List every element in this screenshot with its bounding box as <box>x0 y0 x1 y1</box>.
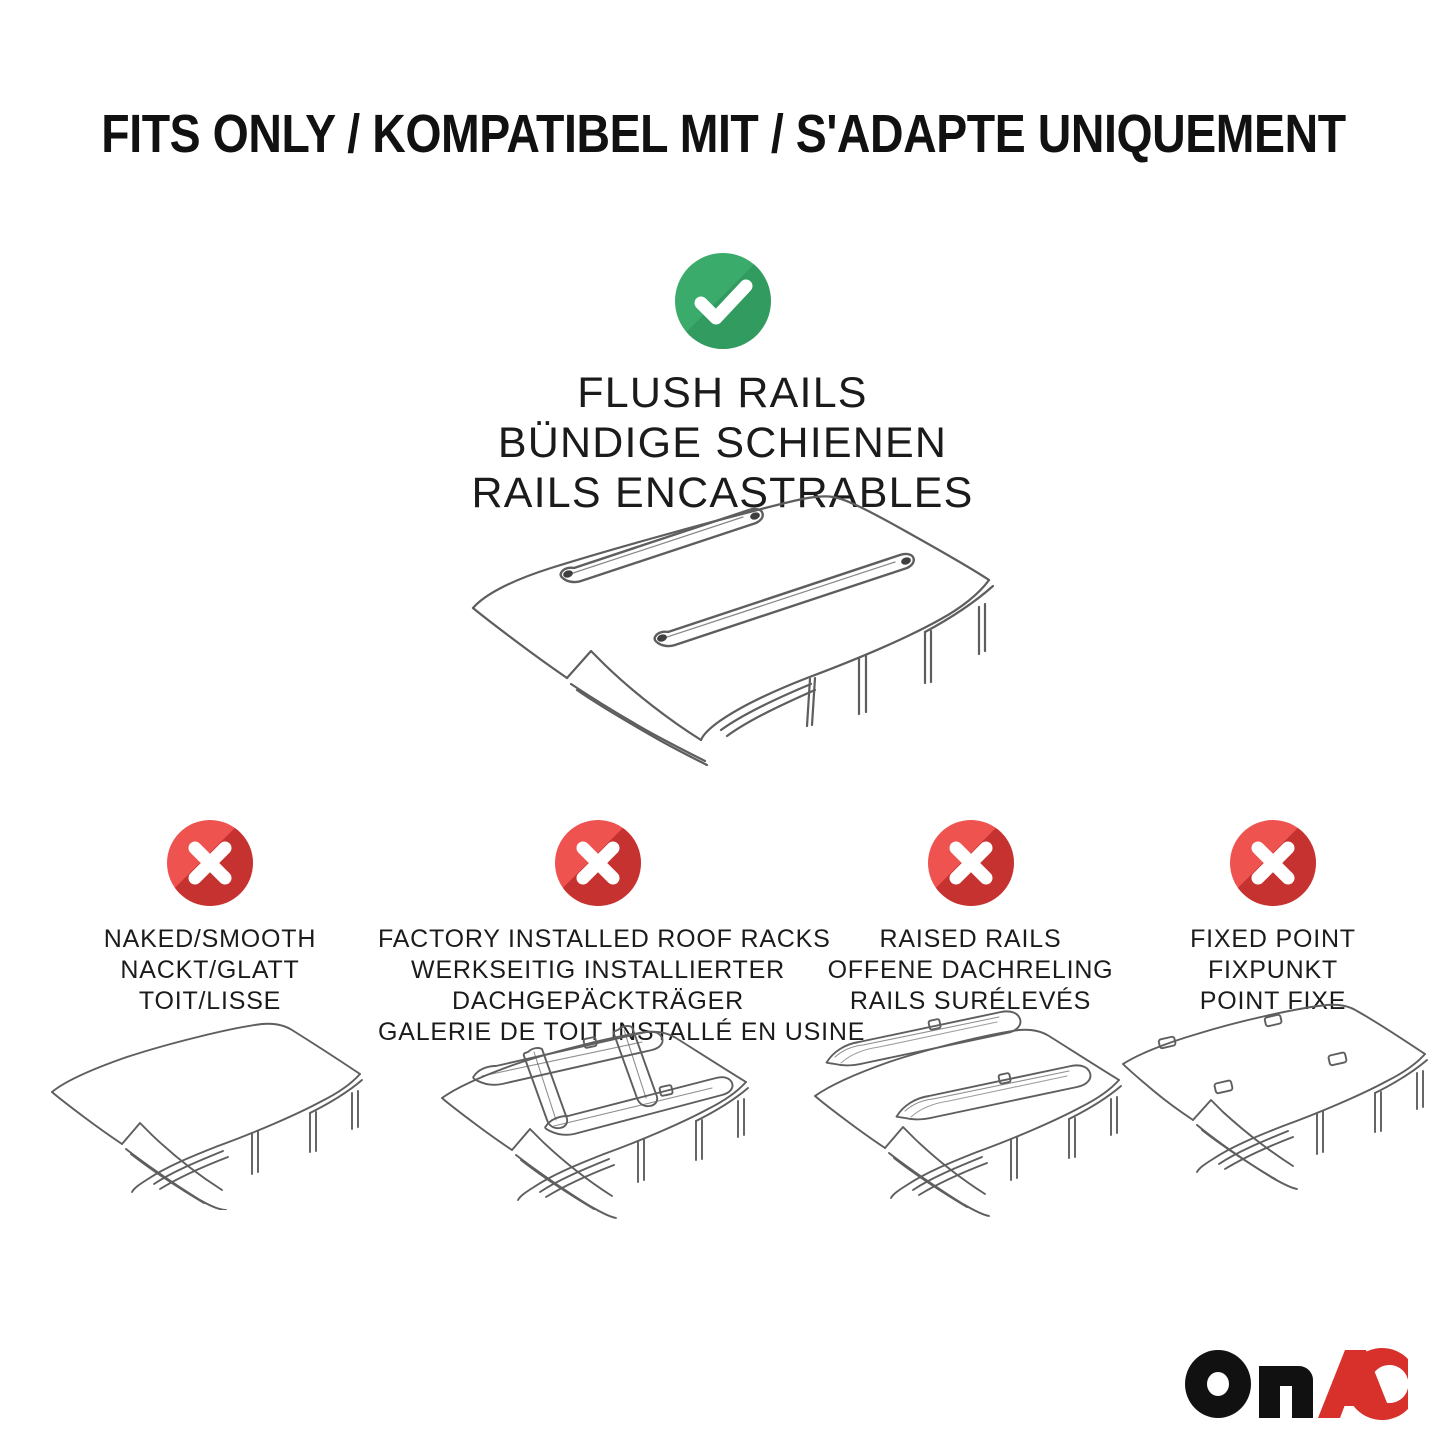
omac-logo: OMAC <box>1185 1348 1410 1420</box>
incompatible-item-naked-smooth: NAKED/SMOOTH NACKT/GLATT TOIT/LISSE <box>45 820 375 1017</box>
x-circle-icon <box>167 820 253 906</box>
page-title-bar: FITS ONLY / KOMPATIBEL MIT / S'ADAPTE UN… <box>0 104 1445 164</box>
compatible-label-en: FLUSH RAILS <box>0 368 1445 418</box>
compatible-label-de: BÜNDIGE SCHIENEN <box>0 418 1445 468</box>
page-title: FITS ONLY / KOMPATIBEL MIT / S'ADAPTE UN… <box>101 104 1345 164</box>
car-roof-factory-racks-illustration <box>428 1000 768 1230</box>
x-circle-icon <box>928 820 1014 906</box>
incompatible-label-de: OFFENE DACHRELING <box>818 955 1123 986</box>
incompatible-item-fixed-point: FIXED POINT FIXPUNKT POINT FIXE <box>1123 820 1423 1017</box>
incompatible-label-en: FIXED POINT <box>1123 924 1423 955</box>
badge-wrap <box>1123 820 1423 924</box>
incompatible-item-raised-rails: RAISED RAILS OFFENE DACHRELING RAILS SUR… <box>818 820 1123 1017</box>
x-circle-icon <box>1230 820 1316 906</box>
badge-wrap <box>378 820 818 924</box>
car-roof-fixed-point-illustration <box>1113 1000 1433 1210</box>
incompatible-label-en: FACTORY INSTALLED ROOF RACKS <box>378 924 818 955</box>
incompatible-label-de: FIXPUNKT <box>1123 955 1423 986</box>
car-roof-raised-rails-illustration <box>801 1000 1141 1220</box>
incompatible-item-factory-racks: FACTORY INSTALLED ROOF RACKS WERKSEITIG … <box>378 820 818 1048</box>
car-roof-flush-rails-illustration <box>455 468 1015 768</box>
incompatible-label-de: NACKT/GLATT <box>45 955 375 986</box>
incompatible-label-en: RAISED RAILS <box>818 924 1123 955</box>
car-roof-naked-illustration <box>40 1000 380 1210</box>
badge-wrap <box>45 820 375 924</box>
incompatible-section: NAKED/SMOOTH NACKT/GLATT TOIT/LISSE <box>0 820 1445 1250</box>
x-circle-icon <box>555 820 641 906</box>
incompatible-label-en: NAKED/SMOOTH <box>45 924 375 955</box>
check-circle-icon <box>675 253 771 349</box>
incompatible-label-de-1: WERKSEITIG INSTALLIERTER <box>378 955 818 986</box>
badge-wrap <box>818 820 1123 924</box>
